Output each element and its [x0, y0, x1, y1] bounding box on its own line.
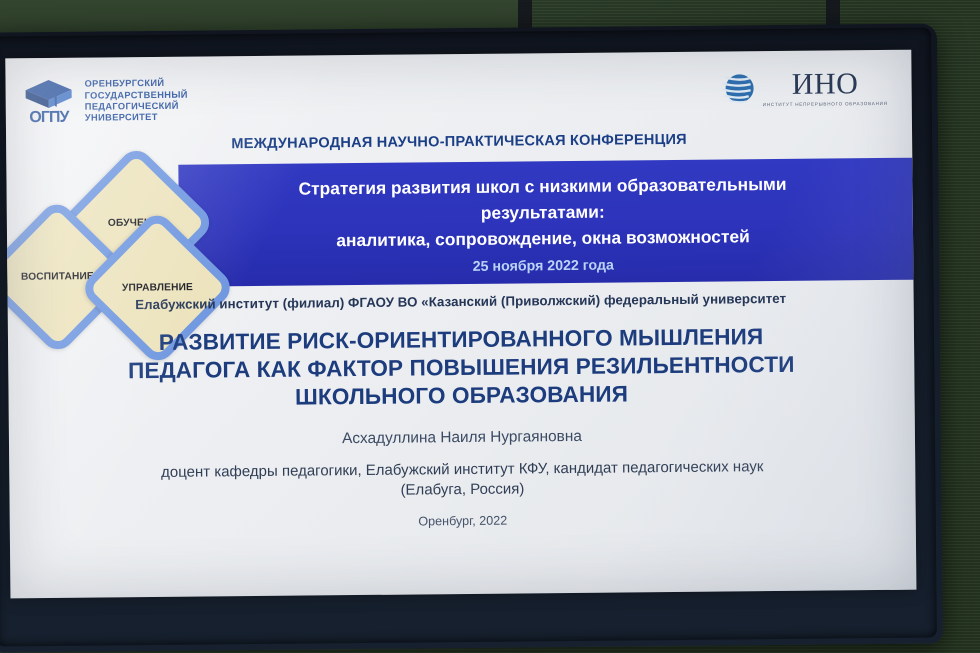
diamond-label-upravlenie: УПРАВЛЕНИЕ: [122, 282, 193, 294]
ogpu-logo-text: ОРЕНБУРГСКИЙ ГОСУДАРСТВЕННЫЙ ПЕДАГОГИЧЕС…: [84, 78, 188, 125]
ino-logo: ИНО ИНСТИТУТ НЕПРЕРЫВНОГО ОБРАЗОВАНИЯ: [719, 68, 887, 108]
monitor: ОГПУ ОРЕНБУРГСКИЙ ГОСУДАРСТВЕННЫЙ ПЕДАГО…: [0, 23, 943, 652]
banner-line-3: аналитика, сопровождение, окна возможнос…: [179, 222, 907, 255]
ogpu-line-3: ПЕДАГОГИЧЕСКИЙ: [85, 101, 188, 113]
ogpu-line-1: ОРЕНБУРГСКИЙ: [84, 78, 187, 90]
author-affiliation: доцент кафедры педагогики, Елабужский ин…: [39, 456, 885, 504]
ino-wordmark: ИНО: [792, 68, 859, 101]
ogpu-logo: ОГПУ ОРЕНБУРГСКИЙ ГОСУДАРСТВЕННЫЙ ПЕДАГО…: [21, 75, 188, 129]
author-name: Асхадуллина Наиля Нургаяновна: [9, 425, 915, 452]
title-banner: Стратегия развития школ с низкими образо…: [178, 158, 913, 287]
ogpu-line-2: ГОСУДАРСТВЕННЫЙ: [85, 89, 188, 101]
ino-subtitle: ИНСТИТУТ НЕПРЕРЫВНОГО ОБРАЗОВАНИЯ: [763, 101, 888, 107]
ino-logo-text: ИНО ИНСТИТУТ НЕПРЕРЫВНОГО ОБРАЗОВАНИЯ: [762, 68, 887, 107]
graduation-cap-logo-icon: ОГПУ: [21, 76, 75, 129]
photo-scene: ОГПУ ОРЕНБУРГСКИЙ ГОСУДАРСТВЕННЫЙ ПЕДАГО…: [0, 0, 980, 653]
ogpu-line-4: УНИВЕРСИТЕТ: [85, 112, 188, 124]
globe-logo-icon: [719, 69, 757, 107]
presentation-title: РАЗВИТИЕ РИСК-ОРИЕНТИРОВАННОГО МЫШЛЕНИЯ …: [48, 322, 875, 414]
presentation-slide[interactable]: ОГПУ ОРЕНБУРГСКИЙ ГОСУДАРСТВЕННЫЙ ПЕДАГО…: [5, 50, 916, 599]
svg-text:ОГПУ: ОГПУ: [29, 109, 70, 126]
banner-text: Стратегия развития школ с низкими образо…: [178, 170, 907, 255]
diamond-label-vospitanie: ВОСПИТАНИЕ: [21, 271, 94, 283]
place-year: Оренбург, 2022: [10, 510, 916, 533]
conference-date: 25 ноября 2022 года: [179, 255, 907, 278]
